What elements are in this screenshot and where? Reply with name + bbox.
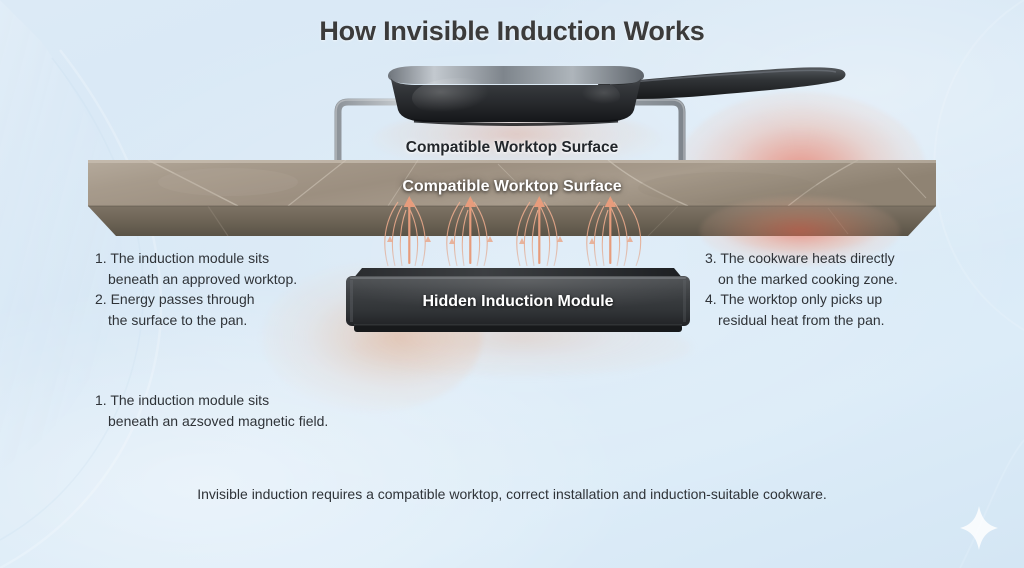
step-line: beneath an azsoved magnetic field. bbox=[95, 411, 328, 432]
worktop-slab-label: Compatible Worktop Surface bbox=[0, 178, 1024, 196]
step-line: 4. The worktop only picks up bbox=[705, 289, 898, 310]
floating-worktop-label: Compatible Worktop Surface bbox=[0, 139, 1024, 157]
infographic-canvas: How Invisible Induction Works bbox=[0, 0, 1024, 568]
magnetic-field-lines bbox=[368, 196, 668, 266]
steps-extra-block: 1. The induction module sits beneath an … bbox=[95, 390, 328, 431]
step-line: the surface to the pan. bbox=[95, 310, 297, 331]
step-line: 1. The induction module sits bbox=[95, 390, 328, 411]
list-item: 4. The worktop only picks up residual he… bbox=[705, 289, 898, 330]
steps-left-block: 1. The induction module sits beneath an … bbox=[95, 248, 297, 330]
step-line: on the marked cooking zone. bbox=[705, 269, 898, 290]
step-line: 2. Energy passes through bbox=[95, 289, 297, 310]
step-line: residual heat from the pan. bbox=[705, 310, 898, 331]
footer-caption: Invisible induction requires a compatibl… bbox=[0, 486, 1024, 502]
step-line: 3. The cookware heats directly bbox=[705, 248, 898, 269]
list-item: 2. Energy passes through the surface to … bbox=[95, 289, 297, 330]
list-item: 1. The induction module sits beneath an … bbox=[95, 248, 297, 289]
induction-module-label: Hidden Induction Module bbox=[340, 293, 696, 311]
steps-right-block: 3. The cookware heats directly on the ma… bbox=[705, 248, 898, 330]
list-item: 1. The induction module sits beneath an … bbox=[95, 390, 328, 431]
step-line: beneath an approved worktop. bbox=[95, 269, 297, 290]
pan-illustration bbox=[370, 62, 850, 132]
step-line: 1. The induction module sits bbox=[95, 248, 297, 269]
sparkle-icon bbox=[958, 505, 1000, 551]
list-item: 3. The cookware heats directly on the ma… bbox=[705, 248, 898, 289]
page-title: How Invisible Induction Works bbox=[0, 16, 1024, 47]
